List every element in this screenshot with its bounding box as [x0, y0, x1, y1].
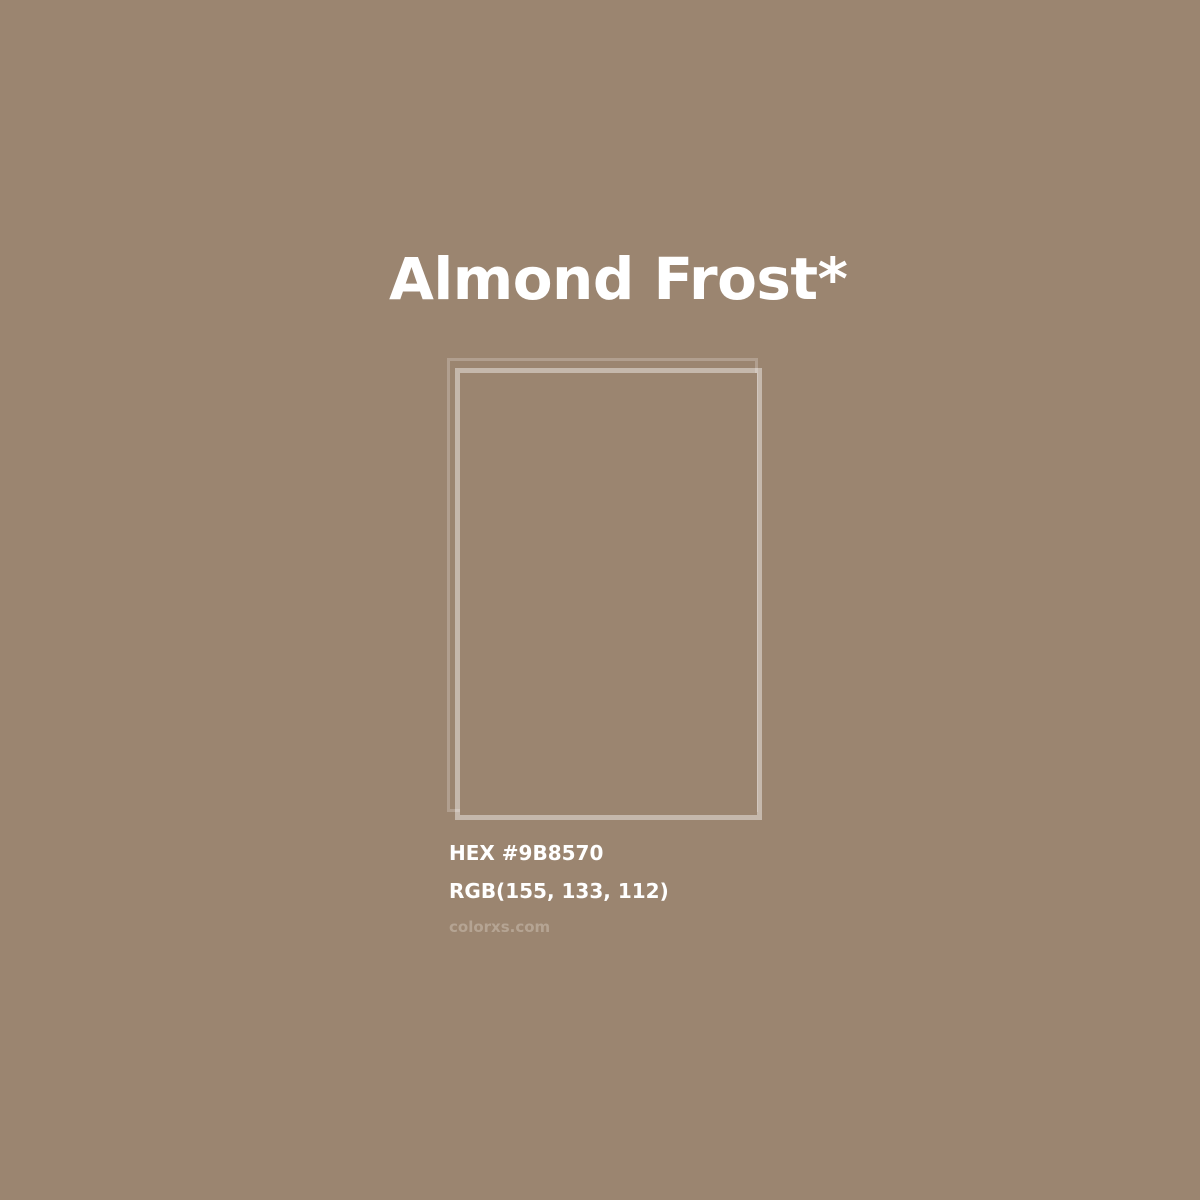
color-detail-page: Almond Frost* HEX #9B8570 RGB(155, 133, …	[0, 0, 1200, 1200]
site-credit-label: colorxs.com	[449, 917, 969, 937]
swatch-fill	[460, 373, 757, 815]
page-title: Almond Frost*	[389, 248, 848, 310]
color-swatch	[440, 350, 780, 835]
rgb-value-label: RGB(155, 133, 112)	[449, 872, 969, 910]
hex-value-label: HEX #9B8570	[449, 834, 969, 872]
color-info-block: HEX #9B8570 RGB(155, 133, 112) colorxs.c…	[449, 834, 969, 937]
